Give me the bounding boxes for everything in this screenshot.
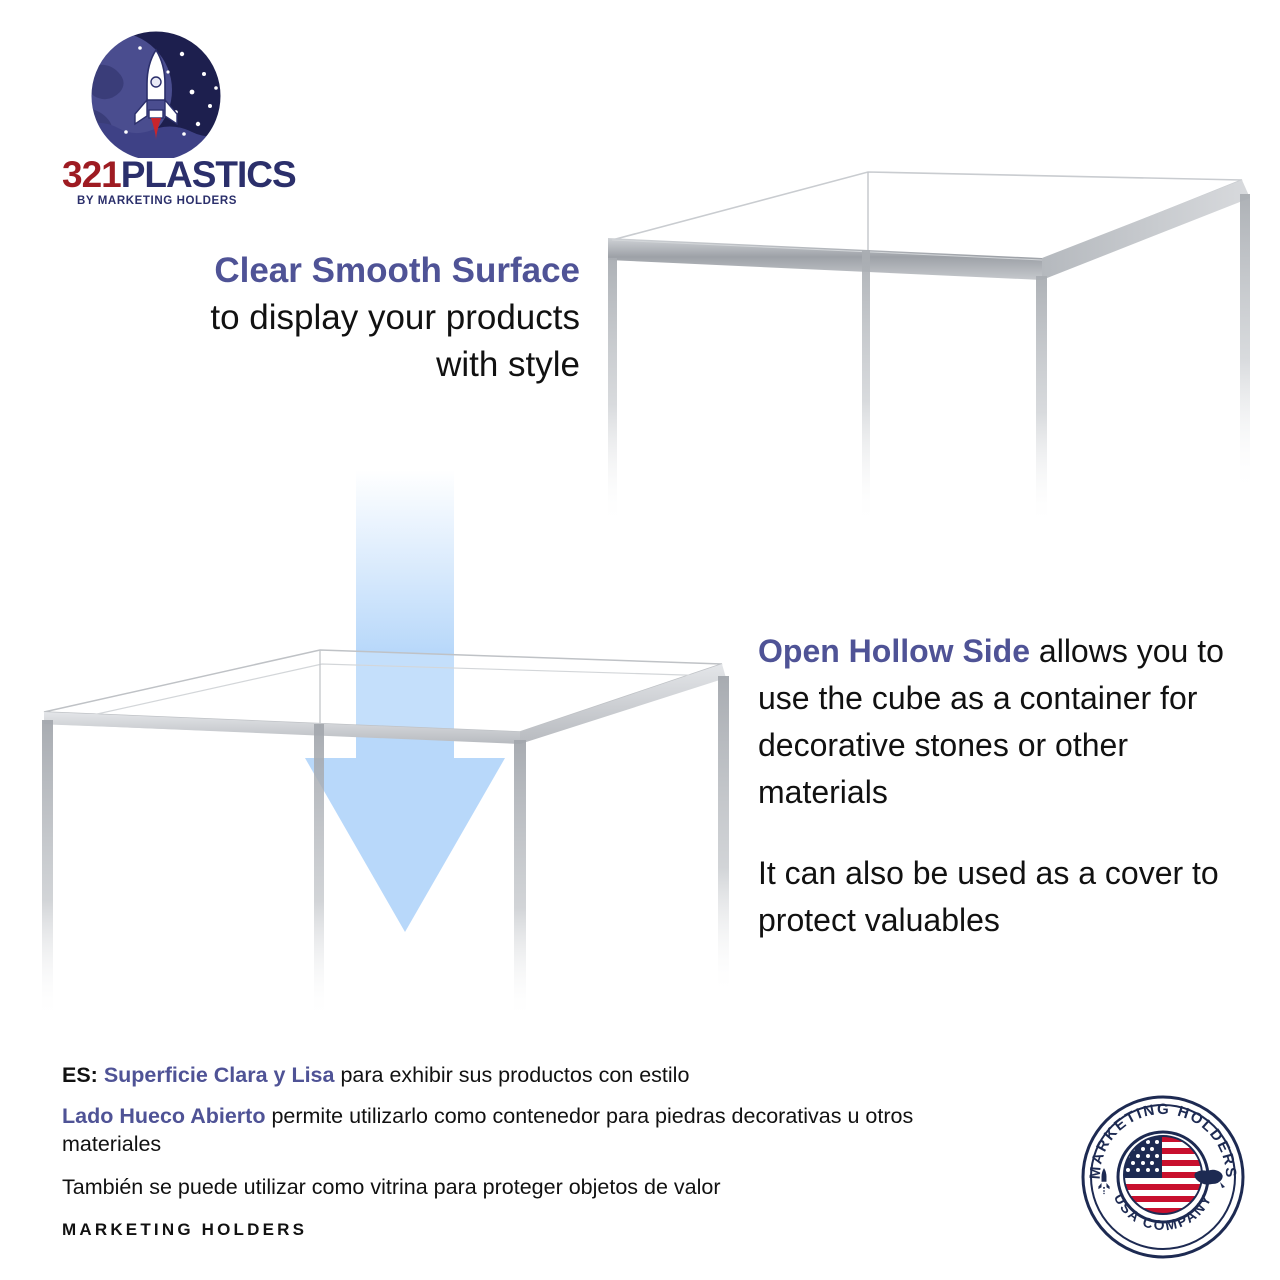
callout-right-para1: Open Hollow Side allows you to use the c…: [758, 628, 1228, 816]
rocket-globe-icon: [80, 28, 232, 158]
callout-top-line1: Clear Smooth Surface: [60, 248, 580, 295]
callout-right-para2: It can also be used as a cover to protec…: [758, 850, 1228, 944]
bottom-acrylic-cube-open: [22, 620, 762, 1040]
brand-logo: 321PLASTICS BY MARKETING HOLDERS: [62, 28, 252, 208]
logo-word: PLASTICS: [121, 154, 296, 195]
callout-right-accent: Open Hollow Side: [758, 633, 1030, 669]
logo-number: 321: [62, 154, 121, 195]
spanish-line-3: También se puede utilizar como vitrina p…: [62, 1174, 982, 1201]
spanish-translation-block: ES: Superficie Clara y Lisa para exhibir…: [62, 1062, 982, 1201]
infographic-canvas: 321PLASTICS BY MARKETING HOLDERS: [0, 0, 1280, 1280]
callout-top-line3: with style: [60, 342, 580, 389]
logo-wordmark: 321PLASTICS BY MARKETING HOLDERS: [62, 156, 252, 208]
usa-company-seal: MARKETING HOLDERS USA COMPANY: [1078, 1092, 1248, 1262]
spanish-line2-accent: Lado Hueco Abierto: [62, 1104, 265, 1128]
logo-tagline: BY MARKETING HOLDERS: [62, 195, 252, 207]
callout-open-hollow-side: Open Hollow Side allows you to use the c…: [758, 628, 1228, 944]
spanish-line1-rest: para exhibir sus productos con estilo: [334, 1063, 689, 1087]
callout-top-line2: to display your products: [60, 295, 580, 342]
spanish-line-1: ES: Superficie Clara y Lisa para exhibir…: [62, 1062, 982, 1089]
callout-clear-smooth-surface: Clear Smooth Surface to display your pro…: [60, 248, 580, 389]
footer-brand-text: MARKETING HOLDERS: [62, 1220, 307, 1240]
spanish-line1-accent: Superficie Clara y Lisa: [104, 1063, 335, 1087]
spanish-line-2: Lado Hueco Abierto permite utilizarlo co…: [62, 1103, 982, 1158]
top-acrylic-cube: [590, 150, 1270, 530]
spanish-prefix: ES:: [62, 1063, 98, 1087]
